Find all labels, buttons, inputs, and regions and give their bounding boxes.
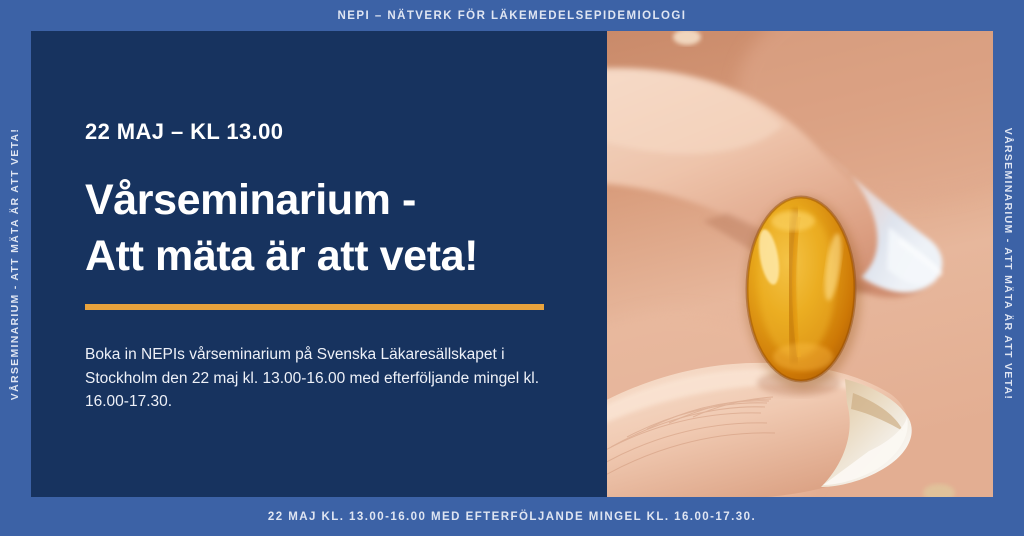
top-banner-text: NEPI – NÄTVERK FÖR LÄKEMEDELSEPIDEMIOLOG… bbox=[338, 10, 687, 22]
event-date-eyebrow: 22 MAJ – KL 13.00 bbox=[85, 119, 283, 145]
capsule-photo bbox=[607, 31, 993, 497]
main-panel: 22 MAJ – KL 13.00 Vårseminarium - Att mä… bbox=[31, 31, 993, 497]
body-paragraph: Boka in NEPIs vårseminarium på Svenska L… bbox=[85, 343, 545, 414]
top-banner: NEPI – NÄTVERK FÖR LÄKEMEDELSEPIDEMIOLOG… bbox=[0, 0, 1024, 31]
accent-divider bbox=[85, 304, 544, 310]
left-vertical-rail: VÅRSEMINARIUM - ATT MÄTA ÄR ATT VETA! bbox=[0, 31, 31, 497]
capsule-photo-illustration bbox=[607, 31, 993, 497]
bottom-banner: 22 MAJ KL. 13.00-16.00 MED EFTERFÖLJANDE… bbox=[0, 497, 1024, 536]
bottom-banner-text: 22 MAJ KL. 13.00-16.00 MED EFTERFÖLJANDE… bbox=[268, 511, 756, 523]
headline-line-1: Vårseminarium - bbox=[85, 172, 553, 228]
headline-line-2: Att mäta är att veta! bbox=[85, 228, 553, 284]
text-column: 22 MAJ – KL 13.00 Vårseminarium - Att mä… bbox=[85, 31, 553, 497]
page-title: Vårseminarium - Att mäta är att veta! bbox=[85, 172, 553, 284]
capsule bbox=[745, 197, 861, 389]
poster-canvas: NEPI – NÄTVERK FÖR LÄKEMEDELSEPIDEMIOLOG… bbox=[0, 0, 1024, 536]
left-rail-text: VÅRSEMINARIUM - ATT MÄTA ÄR ATT VETA! bbox=[10, 128, 22, 400]
right-rail-text: VÅRSEMINARIUM - ATT MÄTA ÄR ATT VETA! bbox=[1003, 128, 1015, 400]
right-vertical-rail: VÅRSEMINARIUM - ATT MÄTA ÄR ATT VETA! bbox=[993, 31, 1024, 497]
